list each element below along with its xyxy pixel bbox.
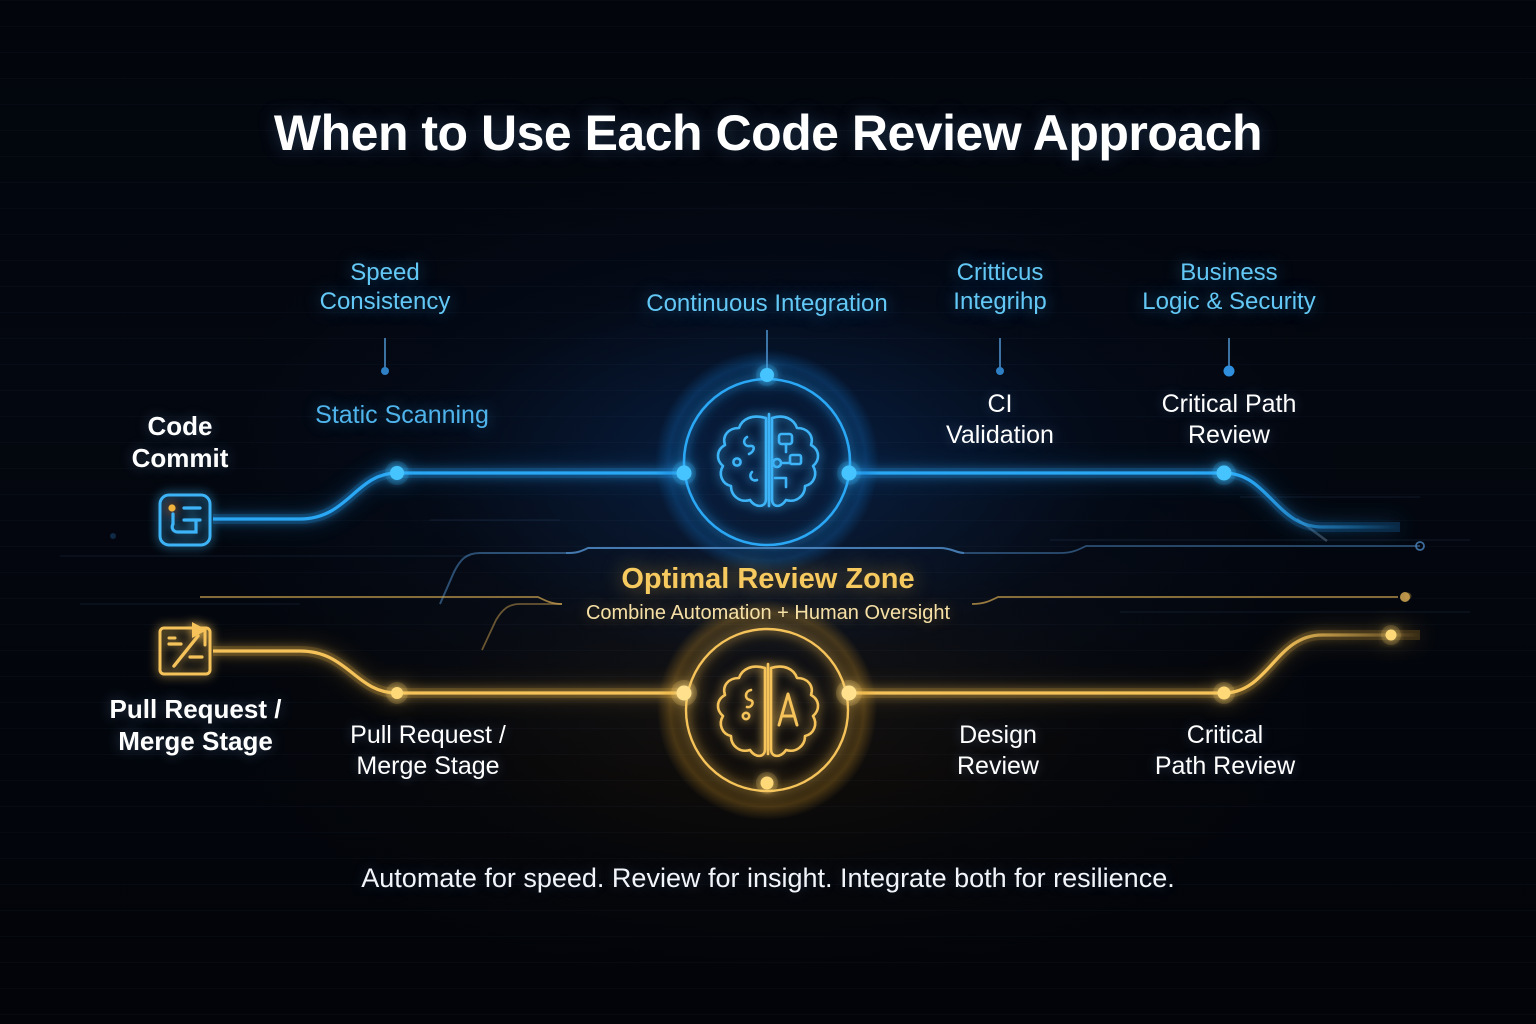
stage-ci-validation: CI Validation bbox=[890, 389, 1110, 450]
stage-design-review: Design Review bbox=[888, 720, 1108, 781]
human-track-line bbox=[213, 635, 1420, 693]
page-title: When to Use Each Code Review Approach bbox=[0, 104, 1536, 162]
commit-icon bbox=[160, 495, 210, 545]
start-label-pull-request-merge-stage: Pull Request / Merge Stage bbox=[88, 694, 303, 757]
decor-slash bbox=[1297, 519, 1327, 541]
human-ring-halo bbox=[657, 600, 877, 820]
ai-ring bbox=[684, 379, 850, 545]
ai-ring-halo bbox=[655, 350, 879, 574]
annotation-business-logic-security: Business Logic & Security bbox=[1089, 258, 1369, 317]
automated-connectors bbox=[385, 330, 1229, 372]
annotation-speed-consistency: Speed Consistency bbox=[265, 258, 505, 317]
pull-request-icon bbox=[160, 622, 210, 674]
zone-title: Optimal Review Zone bbox=[0, 563, 1536, 596]
optimal-zone-bracket bbox=[200, 542, 1424, 650]
annotation-continuous-integration: Continuous Integration bbox=[597, 289, 937, 318]
annotation-critticus-integrihp: Critticus Integrihp bbox=[890, 258, 1110, 317]
human-brain-icon bbox=[718, 664, 818, 756]
ai-brain-icon bbox=[718, 414, 818, 506]
stage-static-scanning: Static Scanning bbox=[282, 400, 522, 431]
footer-tagline: Automate for speed. Review for insight. … bbox=[0, 863, 1536, 894]
start-label-code-commit: Code Commit bbox=[80, 411, 280, 474]
automated-connector-dots bbox=[381, 366, 1235, 377]
stage-critical-path-review-human: Critical Path Review bbox=[1105, 720, 1345, 781]
zone-subtitle: Combine Automation + Human Oversight bbox=[0, 602, 1536, 625]
infographic-canvas: When to Use Each Code Review Approach Sp… bbox=[0, 0, 1536, 1024]
human-ring bbox=[686, 629, 848, 791]
stage-pull-request-merge: Pull Request / Merge Stage bbox=[308, 720, 548, 781]
automated-track-line bbox=[213, 473, 1400, 527]
stage-critical-path-review-automated: Critical Path Review bbox=[1099, 389, 1359, 450]
